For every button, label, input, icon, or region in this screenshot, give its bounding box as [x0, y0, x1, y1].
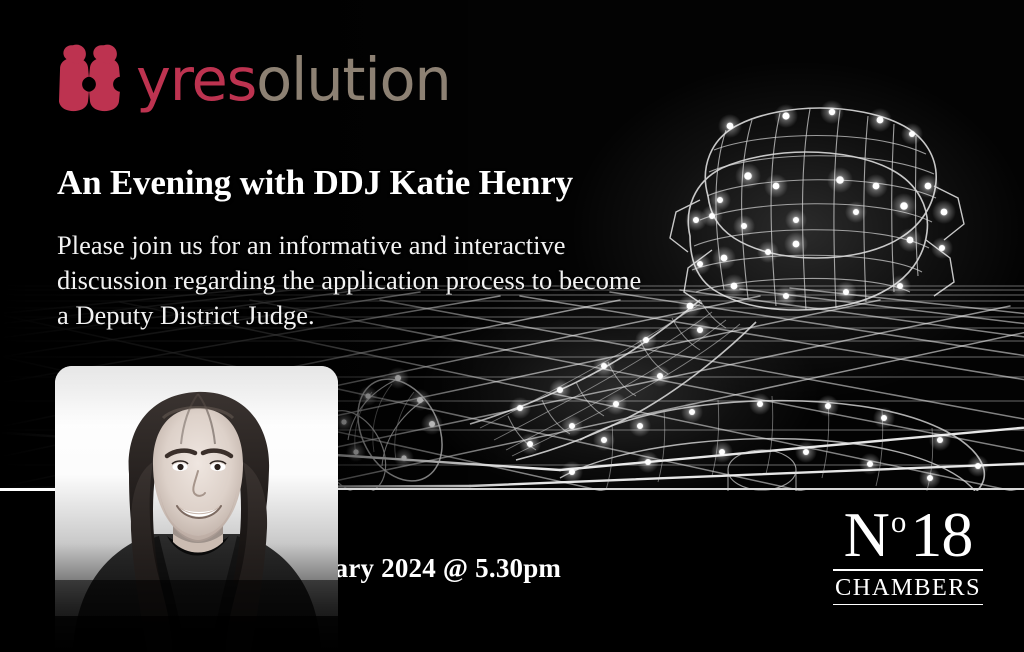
chambers-number-superscript: o — [891, 504, 907, 539]
event-poster: yresolution An Evening with DDJ Katie He… — [0, 0, 1024, 652]
event-description: Please join us for an informative and in… — [57, 228, 657, 334]
chambers-number: 18 — [910, 499, 972, 570]
left-accent-rule — [0, 488, 56, 491]
chambers-rule-bottom — [833, 604, 983, 606]
chambers-number-line: No18 — [833, 505, 983, 566]
speaker-photo-image — [55, 366, 338, 652]
chambers-logo: No18 CHAMBERS — [833, 505, 983, 605]
two-figures-icon — [58, 42, 126, 112]
brand-word-part-2: olution — [256, 45, 451, 114]
chambers-name: CHAMBERS — [833, 575, 983, 601]
brand-word-part-1: yres — [136, 45, 256, 114]
brand-wordmark: yresolution — [136, 50, 451, 109]
event-headline: An Evening with DDJ Katie Henry — [57, 163, 573, 203]
chambers-number-prefix: N — [844, 499, 891, 570]
yresolution-logo: yresolution — [58, 42, 451, 112]
speaker-portrait — [55, 366, 338, 652]
